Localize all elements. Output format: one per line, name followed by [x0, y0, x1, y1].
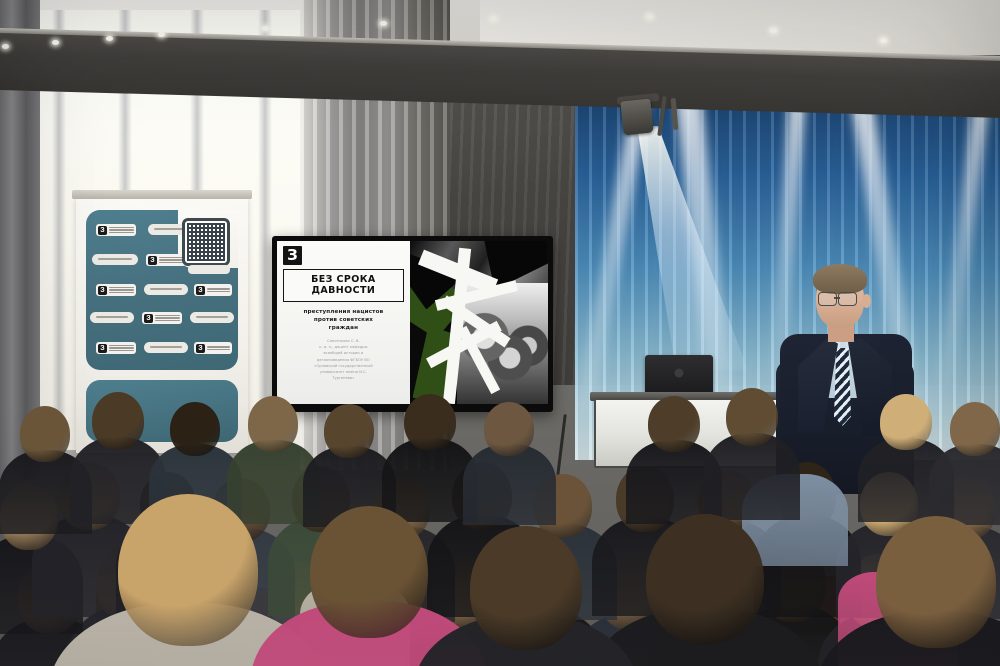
banner-logo-badge: З — [146, 254, 186, 266]
slide-subtitle: преступления нацистов против советских г… — [283, 308, 404, 332]
banner-top-rail — [72, 190, 252, 199]
banner-logo-icon: З — [196, 286, 205, 295]
banner-logo-badge: З — [142, 312, 182, 324]
slide-subtitle-line2: против советских — [283, 316, 404, 324]
attendee-head — [726, 388, 778, 446]
ceiling-light-icon — [2, 44, 9, 49]
banner-logo-icon: З — [98, 344, 107, 353]
qr-caption — [188, 265, 230, 274]
ceiling-light-icon — [262, 26, 269, 31]
attendee-head — [648, 396, 700, 452]
attendee-head — [876, 516, 996, 648]
presenter-hair — [813, 264, 867, 294]
banner-pill — [90, 312, 134, 323]
banner-logo-icon: З — [98, 226, 107, 235]
glasses-bridge — [834, 297, 840, 299]
attendee-head — [118, 494, 258, 646]
spotlight-icon — [620, 99, 653, 136]
slide-title-line1: БЕЗ СРОКА — [287, 274, 400, 285]
audience — [0, 366, 1000, 666]
glasses-icon — [838, 292, 857, 306]
slide-subtitle-line3: граждан — [283, 324, 404, 332]
attendee-head — [248, 396, 298, 452]
qr-code-icon[interactable] — [182, 218, 230, 266]
attendee-head — [20, 406, 70, 462]
presenter-ear — [862, 294, 871, 308]
banner-logo-icon: З — [148, 256, 157, 265]
ceiling-light-icon — [52, 40, 59, 45]
ceiling-light-icon — [490, 16, 497, 21]
banner-logo-icon: З — [144, 314, 153, 323]
ceiling-light-icon — [880, 38, 887, 43]
attendee-shoulders — [704, 433, 800, 520]
attendee-shoulders — [929, 444, 1000, 525]
attendee-head — [310, 506, 428, 638]
attendee-head — [404, 394, 456, 450]
ceiling-light-icon — [106, 36, 113, 41]
attendee-head — [324, 404, 374, 458]
banner-logo-icon: З — [196, 344, 205, 353]
banner-logo-badge: З — [96, 284, 136, 296]
slide-title-box: БЕЗ СРОКА ДАВНОСТИ — [283, 269, 404, 302]
attendee-head — [950, 402, 1000, 456]
glasses-icon — [818, 292, 837, 306]
photo-scene: З З З З З — [0, 0, 1000, 666]
attendee-head — [646, 514, 764, 644]
backdrop-light-streak — [939, 95, 992, 385]
attendee-head — [170, 402, 220, 456]
banner-pill — [144, 284, 188, 295]
ceiling-light-icon — [158, 32, 165, 37]
slide-title-line2: ДАВНОСТИ — [287, 285, 400, 296]
banner-logo-icon: З — [98, 286, 107, 295]
banner-logo-badge: З — [96, 224, 136, 236]
attendee-head — [92, 392, 144, 450]
banner-pill — [144, 342, 188, 353]
attendee-head — [470, 526, 582, 650]
attendee-head — [484, 402, 534, 456]
banner-logo-badge: З — [194, 342, 232, 354]
banner-panel: З З З З З — [86, 210, 238, 370]
banner-logo-badge: З — [194, 284, 232, 296]
banner-pill — [190, 312, 234, 323]
attendee-shoulders — [463, 444, 556, 525]
slide-subtitle-line1: преступления нацистов — [283, 308, 404, 316]
banner-pill — [92, 254, 138, 265]
banner-logo-badge: З — [96, 342, 136, 354]
attendee-head — [880, 394, 932, 450]
ceiling-light-icon — [380, 21, 387, 26]
ceiling-light-icon — [646, 14, 653, 19]
ceiling-light-icon — [770, 28, 777, 33]
slide-logo-icon: З — [283, 246, 302, 265]
